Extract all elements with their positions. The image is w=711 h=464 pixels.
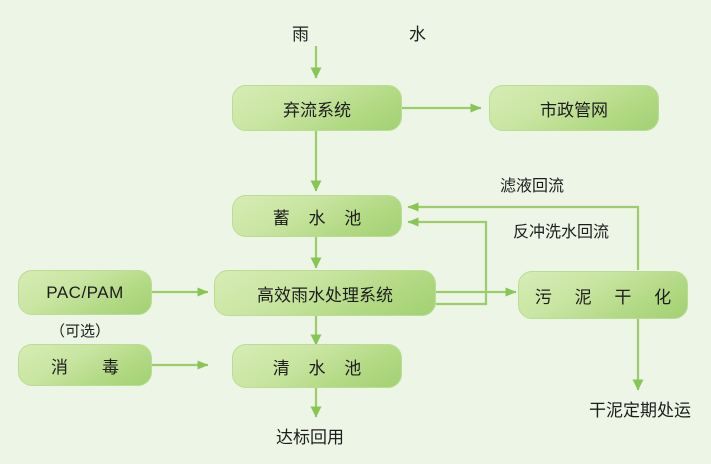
reuse-outlet-label: 达标回用	[276, 423, 344, 448]
node-diversion-system-label: 弃流系统	[283, 96, 351, 121]
backwash-return-label: 反冲洗水回流	[513, 218, 609, 242]
sludge-outlet-label: 干泥定期处运	[589, 396, 691, 421]
node-pac-pam-dosing[interactable]: PAC/PAM	[18, 270, 152, 315]
node-municipal-network[interactable]: 市政管网	[489, 85, 659, 131]
node-clear-water-tank[interactable]: 清 水 池	[232, 344, 402, 388]
node-sludge-drying-label: 污 泥 干 化	[526, 283, 680, 308]
filtrate-return-label: 滤液回流	[500, 172, 564, 196]
node-municipal-network-label: 市政管网	[540, 96, 608, 121]
node-disinfection[interactable]: 消 毒	[18, 344, 152, 386]
flowchart-canvas: 雨 水 弃流系统 市政管网 蓄 水 池 PAC/PAM （可选） 高效雨水处理系…	[0, 0, 711, 464]
optional-note: （可选）	[50, 320, 110, 341]
node-treatment-system[interactable]: 高效雨水处理系统	[214, 270, 436, 316]
node-storage-tank-label: 蓄 水 池	[266, 204, 368, 229]
node-disinfection-label: 消 毒	[51, 353, 119, 378]
node-sludge-drying[interactable]: 污 泥 干 化	[518, 271, 688, 319]
node-clear-water-tank-label: 清 水 池	[266, 354, 368, 379]
inlet-label: 雨 水	[270, 20, 448, 45]
node-storage-tank[interactable]: 蓄 水 池	[232, 195, 402, 237]
node-treatment-system-label: 高效雨水处理系统	[257, 281, 393, 306]
node-diversion-system[interactable]: 弃流系统	[232, 85, 402, 131]
node-pac-pam-dosing-label: PAC/PAM	[46, 283, 124, 303]
